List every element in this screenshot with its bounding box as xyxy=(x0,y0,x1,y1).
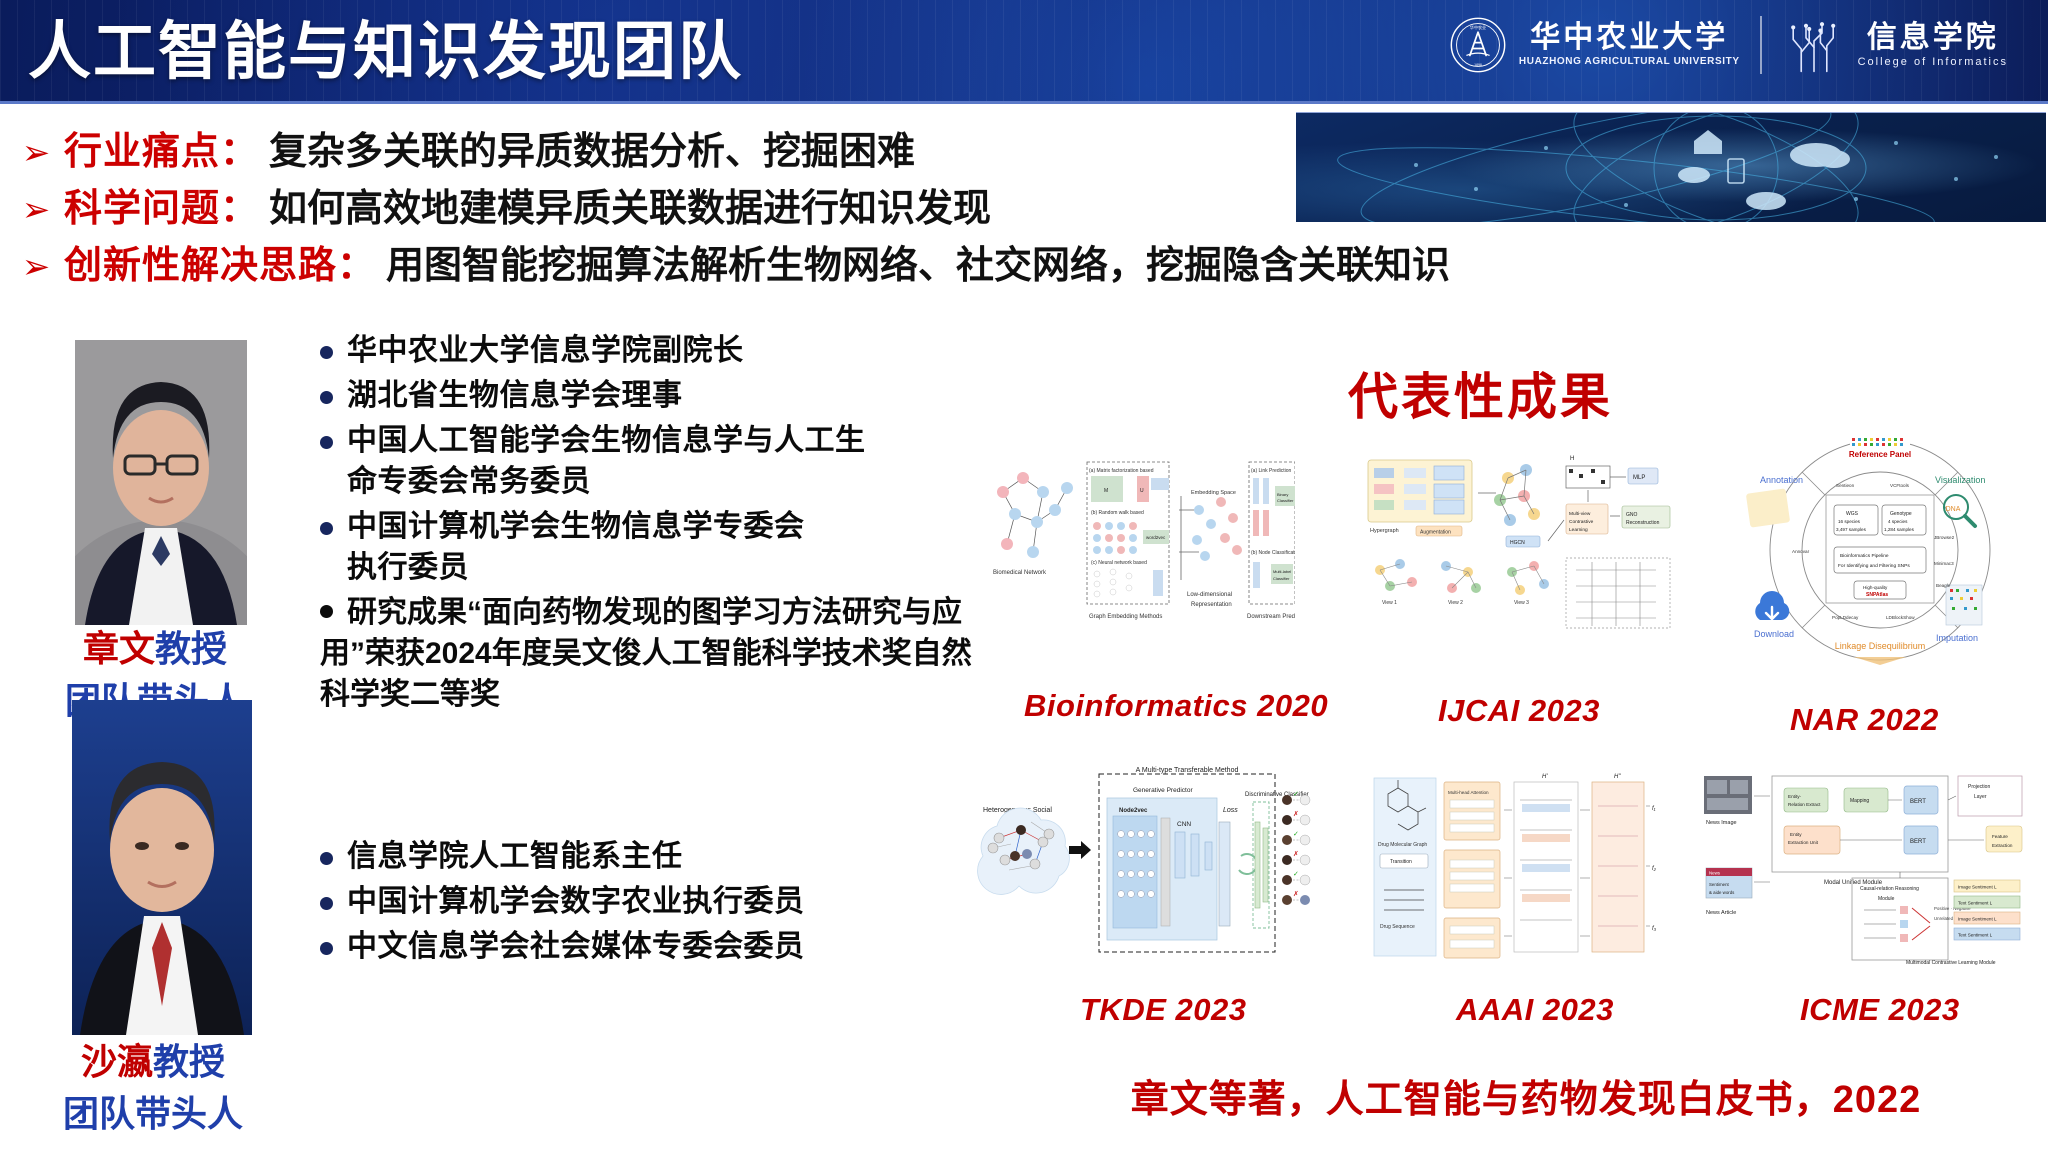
svg-text:CNN: CNN xyxy=(1177,821,1191,828)
svg-text:Contrastive: Contrastive xyxy=(1569,519,1594,525)
slide-root: 人工智能与知识发现团队 华中农业 1898 华中农业大学 HUAZHONG AG… xyxy=(0,0,2048,1152)
caption-bioinformatics: Bioinformatics 2020 xyxy=(1024,688,1328,724)
svg-text:Annovar: Annovar xyxy=(1792,549,1810,554)
avatar xyxy=(75,340,247,625)
problem-statement-list: ➢ 行业痛点： 复杂多关联的异质数据分析、挖掘困难 ➢ 科学问题： 如何高效地建… xyxy=(18,128,1308,299)
circular-snp-database-pipeline-diagram: WGS 16 species 3,497 samples Genotype 4 … xyxy=(1730,435,2030,665)
svg-text:Drug Sequence: Drug Sequence xyxy=(1380,924,1415,930)
logo-college: 信息学院 College of Informatics xyxy=(1782,17,2008,73)
svg-text:U: U xyxy=(1140,488,1144,494)
bullet-dot-icon xyxy=(320,942,333,955)
svg-text:(a) Matrix factorization based: (a) Matrix factorization based xyxy=(1089,468,1154,474)
svg-text:VCFtools: VCFtools xyxy=(1890,483,1910,488)
tech-network-banner-image xyxy=(1296,112,2046,222)
fig-bioinformatics: Biomedical Network (a) Matrix factorizat… xyxy=(985,452,1295,662)
bio-text: 中国计算机学会数字农业执行委员 xyxy=(347,881,805,922)
fig-ijcai: Hypergraph Augmentation HGCN xyxy=(1360,448,1680,663)
caption-tkde: TKDE 2023 xyxy=(1080,992,1246,1028)
person-1-title: 教授 xyxy=(155,628,227,669)
svg-text:Visualization: Visualization xyxy=(1935,475,1985,485)
caption-aaai: AAAI 2023 xyxy=(1456,992,1614,1028)
svg-text:Annotation: Annotation xyxy=(1760,475,1803,485)
svg-text:(b) Node Classification: (b) Node Classification xyxy=(1251,550,1295,556)
multi-type-transferable-method-diagram: Heterogeneous Social Networks A Multi-ty… xyxy=(965,760,1315,965)
list-item: 湖北省生物信息学会理事 xyxy=(320,375,1000,416)
svg-text:SNPAtlas: SNPAtlas xyxy=(1866,592,1888,598)
svg-text:Feature: Feature xyxy=(1992,834,2008,839)
svg-text:Graph Embedding Methods: Graph Embedding Methods xyxy=(1089,614,1162,620)
svg-text:For Identifying and Filtering: For Identifying and Filtering SNPs xyxy=(1838,563,1910,569)
svg-text:H'': H'' xyxy=(1614,774,1621,780)
svg-text:Binary: Binary xyxy=(1277,492,1288,497)
person-1-award-note: 研究成果“面向药物发现的图学习方法研究与应用”荣获2024年度吴文俊人工智能科学… xyxy=(320,592,1000,715)
svg-text:Biomedical Network: Biomedical Network xyxy=(993,570,1047,576)
svg-text:BERT: BERT xyxy=(1910,799,1926,805)
problem-text-0: 复杂多关联的异质数据分析、挖掘困难 xyxy=(269,128,915,176)
svg-text:PopLDdecay: PopLDdecay xyxy=(1832,615,1859,620)
logo-college-cn: 信息学院 xyxy=(1867,21,1999,55)
svg-text:Representation: Representation xyxy=(1191,602,1232,608)
caption-ijcai: IJCAI 2023 xyxy=(1438,693,1600,729)
logo-university-cn: 华中农业大学 xyxy=(1530,21,1728,55)
multi-view-contrastive-learning-diagram: Hypergraph Augmentation HGCN xyxy=(1360,448,1680,663)
page-title: 人工智能与知识发现团队 xyxy=(28,6,743,98)
list-item: 信息学院人工智能系主任 xyxy=(320,836,960,877)
svg-text:Extraction: Extraction xyxy=(1992,843,2013,848)
svg-text:Image Sentiment L: Image Sentiment L xyxy=(1958,885,1997,890)
svg-text:Hypergraph: Hypergraph xyxy=(1370,528,1399,534)
svg-text:Text Sentiment L: Text Sentiment L xyxy=(1958,933,1993,938)
svg-text:f₂: f₂ xyxy=(1652,866,1657,872)
svg-text:News Article: News Article xyxy=(1706,910,1736,916)
fig-icme: News Image News Sentiment & aide words N… xyxy=(1700,768,2030,968)
graph-embedding-pipeline-diagram: Biomedical Network (a) Matrix factorizat… xyxy=(985,452,1295,662)
fig-tkde: Heterogeneous Social Networks A Multi-ty… xyxy=(965,760,1315,965)
portrait-photo-1 xyxy=(75,340,247,625)
logo-group: 华中农业 1898 华中农业大学 HUAZHONG AGRICULTURAL U… xyxy=(1449,16,2008,74)
svg-text:Linkage Disequilibrium: Linkage Disequilibrium xyxy=(1835,641,1926,651)
svg-text:BERT: BERT xyxy=(1910,839,1926,845)
bio-text: 中文信息学会社会媒体专委会委员 xyxy=(347,926,805,967)
bullet-dot-icon xyxy=(320,346,333,359)
svg-text:High-quality: High-quality xyxy=(1863,585,1888,590)
problem-text-1: 如何高效地建模异质关联数据进行知识发现 xyxy=(269,185,991,233)
svg-text:News: News xyxy=(1709,871,1721,876)
list-item: 中文信息学会社会媒体专委会委员 xyxy=(320,926,960,967)
svg-text:Sentieon: Sentieon xyxy=(1836,483,1855,488)
svg-text:Download: Download xyxy=(1754,629,1794,639)
svg-text:Discriminative Classifier: Discriminative Classifier xyxy=(1245,792,1309,798)
svg-text:16 species: 16 species xyxy=(1838,519,1861,524)
caption-icme: ICME 2023 xyxy=(1800,992,1960,1028)
svg-text:Generative Predictor: Generative Predictor xyxy=(1133,787,1193,794)
svg-text:Multi-label: Multi-label xyxy=(1273,569,1291,574)
svg-text:View 3: View 3 xyxy=(1514,600,1529,606)
svg-text:✗: ✗ xyxy=(1293,810,1299,818)
logo-university-en: HUAZHONG AGRICULTURAL UNIVERSITY xyxy=(1519,55,1740,69)
svg-text:1,284 samples: 1,284 samples xyxy=(1884,527,1915,532)
svg-text:M: M xyxy=(1104,488,1108,494)
arrow-bullet-icon: ➢ xyxy=(18,131,54,175)
svg-text:(b) Random walk based: (b) Random walk based xyxy=(1091,510,1144,516)
svg-text:Reference Panel: Reference Panel xyxy=(1849,450,1911,459)
svg-text:✓: ✓ xyxy=(1293,791,1299,798)
svg-text:Low-dimensional: Low-dimensional xyxy=(1187,592,1232,598)
svg-text:Sentiment: Sentiment xyxy=(1709,882,1730,887)
person-1-bio-list: 华中农业大学信息学院副院长 湖北省生物信息学会理事 中国人工智能学会生物信息学与… xyxy=(320,330,1000,715)
svg-text:News Image: News Image xyxy=(1706,820,1737,826)
network-globe-graphic xyxy=(1296,113,2046,222)
person-2-bio-list: 信息学院人工智能系主任 中国计算机学会数字农业执行委员 中文信息学会社会媒体专委… xyxy=(320,836,960,971)
multimodal-news-bert-diagram: News Image News Sentiment & aide words N… xyxy=(1700,768,2030,968)
svg-text:Transition: Transition xyxy=(1390,859,1412,865)
problem-row-2: ➢ 创新性解决思路： 用图智能挖掘算法解析生物网络、社交网络，挖掘隐含关联知识 xyxy=(18,242,1308,290)
problem-label-0: 行业痛点： xyxy=(64,128,259,176)
svg-text:华中农业: 华中农业 xyxy=(1470,24,1486,30)
svg-text:Bioinformatics Pipeline: Bioinformatics Pipeline xyxy=(1840,553,1889,559)
svg-text:f₁: f₁ xyxy=(1652,806,1656,812)
svg-text:JBrowse2: JBrowse2 xyxy=(1934,535,1955,540)
list-item: 中国计算机学会数字农业执行委员 xyxy=(320,881,960,922)
svg-text:Multi-head Attention: Multi-head Attention xyxy=(1448,790,1489,795)
svg-text:Reconstruction: Reconstruction xyxy=(1626,520,1660,526)
svg-text:MLP: MLP xyxy=(1633,475,1645,481)
svg-text:✗: ✗ xyxy=(1293,890,1299,898)
svg-text:Classifier: Classifier xyxy=(1277,498,1294,503)
svg-text:Image Sentiment L: Image Sentiment L xyxy=(1958,917,1997,922)
bio-text: 信息学院人工智能系主任 xyxy=(347,836,683,877)
person-name-2: 沙瀛教授 团队带头人 xyxy=(18,1040,288,1136)
svg-text:Embedding Space: Embedding Space xyxy=(1191,490,1236,496)
svg-text:Classifier: Classifier xyxy=(1273,576,1290,581)
svg-text:✓: ✓ xyxy=(1293,871,1299,878)
svg-text:Beagle: Beagle xyxy=(1936,583,1951,588)
svg-text:H: H xyxy=(1570,456,1574,462)
svg-text:Downstream Prediction Tasks: Downstream Prediction Tasks xyxy=(1247,614,1295,620)
svg-text:✓: ✓ xyxy=(1293,831,1299,838)
svg-text:Minimac3: Minimac3 xyxy=(1934,561,1954,566)
bullet-dot-icon xyxy=(320,522,333,535)
problem-label-2: 创新性解决思路： xyxy=(64,242,376,290)
list-item: 中国计算机学会生物信息学专委会 执行委员 xyxy=(320,506,1000,588)
svg-text:A Multi-type Transferable Meth: A Multi-type Transferable Method xyxy=(1136,767,1239,774)
svg-text:Loss: Loss xyxy=(1223,807,1238,814)
svg-text:(c) Neural network based: (c) Neural network based xyxy=(1091,560,1147,566)
svg-text:Text Sentiment L: Text Sentiment L xyxy=(1958,901,1993,906)
bio-text: 中国计算机学会生物信息学专委会 执行委员 xyxy=(347,506,805,588)
svg-text:Drug Molecular Graph: Drug Molecular Graph xyxy=(1378,842,1427,848)
svg-text:Entity: Entity xyxy=(1790,832,1802,837)
svg-text:Node2vec: Node2vec xyxy=(1119,808,1148,814)
drug-molecule-attention-network-diagram: Drug Molecular Graph Transition Drug Seq… xyxy=(1370,770,1670,965)
logo-university: 华中农业 1898 华中农业大学 HUAZHONG AGRICULTURAL U… xyxy=(1449,16,1740,74)
svg-text:Multimodal Contrastive Learnin: Multimodal Contrastive Learning Module xyxy=(1906,960,1996,966)
problem-row-1: ➢ 科学问题： 如何高效地建模异质关联数据进行知识发现 xyxy=(18,185,1308,233)
circuit-tree-icon xyxy=(1782,17,1846,73)
svg-text:Extraction Unit: Extraction Unit xyxy=(1788,840,1819,845)
fig-nar: WGS 16 species 3,497 samples Genotype 4 … xyxy=(1730,435,2030,665)
svg-text:Entity-: Entity- xyxy=(1788,794,1801,799)
avatar xyxy=(72,700,252,1035)
bio-text: 湖北省生物信息学会理事 xyxy=(347,375,683,416)
svg-text:LDBlockShow: LDBlockShow xyxy=(1886,615,1915,620)
svg-text:Learning: Learning xyxy=(1569,527,1588,533)
svg-text:HGCN: HGCN xyxy=(1510,540,1525,546)
svg-text:DNA: DNA xyxy=(1946,506,1961,513)
person-2-title: 教授 xyxy=(153,1041,225,1082)
portrait-photo-2 xyxy=(72,700,252,1035)
list-item: 中国人工智能学会生物信息学与人工生 命专委会常务委员 xyxy=(320,420,1000,502)
svg-text:& aide words: & aide words xyxy=(1709,890,1735,895)
svg-text:View 2: View 2 xyxy=(1448,600,1463,606)
svg-text:Multi-view: Multi-view xyxy=(1569,511,1591,517)
svg-text:Projection: Projection xyxy=(1968,784,1990,790)
svg-text:Causal-relation Reasoning: Causal-relation Reasoning xyxy=(1860,886,1919,892)
svg-text:word2vec: word2vec xyxy=(1146,535,1166,540)
person-1-name: 章文 xyxy=(83,628,155,669)
person-2-role: 团队带头人 xyxy=(18,1092,288,1136)
achievements-title: 代表性成果 xyxy=(1348,357,1613,429)
svg-text:View 1: View 1 xyxy=(1382,600,1397,606)
slide-header: 人工智能与知识发现团队 华中农业 1898 华中农业大学 HUAZHONG AG… xyxy=(0,0,2048,104)
fig-aaai: Drug Molecular Graph Transition Drug Seq… xyxy=(1370,770,1670,965)
arrow-bullet-icon: ➢ xyxy=(18,188,54,232)
svg-text:GNO: GNO xyxy=(1626,512,1638,518)
svg-text:Genotype: Genotype xyxy=(1890,511,1912,517)
svg-text:Module: Module xyxy=(1878,896,1895,902)
svg-text:Relation Extract: Relation Extract xyxy=(1788,802,1821,807)
whitepaper-citation: 章文等著，人工智能与药物发现白皮书，2022 xyxy=(1046,1068,2006,1123)
logo-divider xyxy=(1760,16,1762,74)
problem-text-2: 用图智能挖掘算法解析生物网络、社交网络，挖掘隐含关联知识 xyxy=(386,242,1450,290)
arrow-bullet-icon: ➢ xyxy=(18,245,54,289)
logo-college-en: College of Informatics xyxy=(1858,55,2008,69)
university-seal-icon: 华中农业 1898 xyxy=(1449,16,1507,74)
svg-text:(a) Link Prediction: (a) Link Prediction xyxy=(1251,468,1292,474)
svg-text:f₃: f₃ xyxy=(1652,926,1657,932)
svg-text:✗: ✗ xyxy=(1293,850,1299,858)
bullet-dot-icon xyxy=(320,391,333,404)
svg-text:H': H' xyxy=(1542,774,1548,780)
svg-text:3,497 samples: 3,497 samples xyxy=(1836,527,1867,532)
bio-text: 中国人工智能学会生物信息学与人工生 命专委会常务委员 xyxy=(347,420,866,502)
bullet-dot-icon xyxy=(320,897,333,910)
svg-text:WGS: WGS xyxy=(1846,511,1859,517)
bio-text: 华中农业大学信息学院副院长 xyxy=(347,330,744,371)
svg-text:Layer: Layer xyxy=(1974,794,1987,800)
svg-text:Augmentation: Augmentation xyxy=(1420,530,1451,536)
svg-text:Mapping: Mapping xyxy=(1850,798,1869,804)
caption-nar: NAR 2022 xyxy=(1790,702,1939,738)
svg-text:Imputation: Imputation xyxy=(1936,633,1978,643)
person-2-name: 沙瀛 xyxy=(81,1041,153,1082)
bullet-dot-icon xyxy=(320,436,333,449)
award-note-text: 研究成果“面向药物发现的图学习方法研究与应用”荣获2024年度吴文俊人工智能科学… xyxy=(320,596,972,711)
svg-text:4 species: 4 species xyxy=(1888,519,1908,524)
problem-label-1: 科学问题： xyxy=(64,185,259,233)
bullet-dot-icon xyxy=(320,605,333,618)
bullet-dot-icon xyxy=(320,852,333,865)
list-item: 华中农业大学信息学院副院长 xyxy=(320,330,1000,371)
svg-text:1898: 1898 xyxy=(1474,63,1482,67)
problem-row-0: ➢ 行业痛点： 复杂多关联的异质数据分析、挖掘困难 xyxy=(18,128,1308,176)
